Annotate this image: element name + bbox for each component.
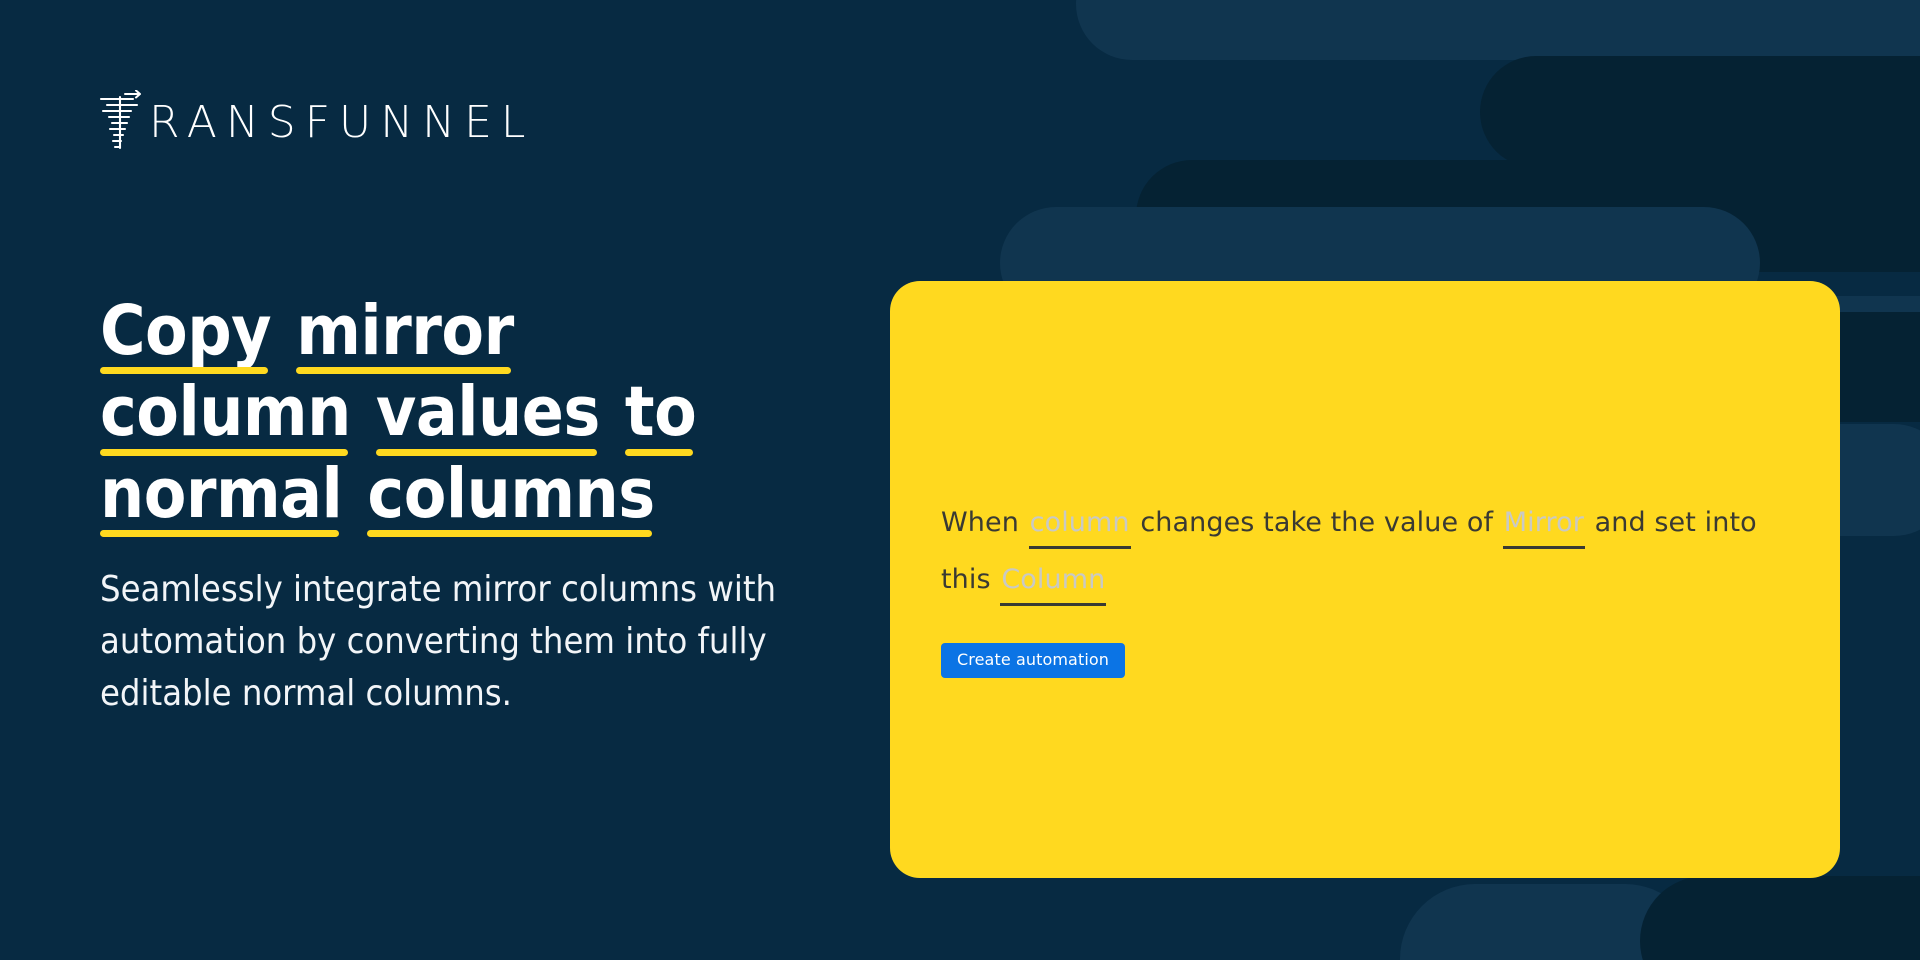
target-column-slot[interactable]: Column: [999, 564, 1107, 595]
headline-word: column: [100, 373, 351, 454]
automation-card-content: When column changes take the value of Mi…: [941, 495, 1804, 678]
deco-bar-3: [1136, 160, 1920, 272]
hero-text-column: Copy mirror column values to normal colu…: [100, 292, 820, 721]
brand-name: RANSFUNNEL: [149, 101, 534, 145]
headline-word: normal: [100, 455, 342, 536]
page-title: Copy mirror column values to normal colu…: [100, 292, 720, 536]
headline-word: columns: [367, 455, 654, 536]
headline-word: mirror: [296, 292, 513, 373]
create-automation-button[interactable]: Create automation: [941, 643, 1125, 678]
deco-bar-10: [1640, 876, 1920, 960]
headline-word: to: [625, 373, 696, 454]
trigger-column-slot[interactable]: column: [1028, 507, 1132, 538]
brand-logo[interactable]: RANSFUNNEL: [99, 90, 534, 152]
deco-bar-9: [1400, 884, 1700, 960]
tornado-funnel-icon: [99, 90, 145, 152]
automation-rule-sentence: When column changes take the value of Mi…: [941, 495, 1804, 608]
hero-banner: RANSFUNNEL Copy mirror column values to …: [0, 0, 1920, 960]
headline-word: values: [376, 373, 600, 454]
deco-bar-2: [1480, 56, 1920, 168]
rule-mid-1: changes take the value of: [1140, 507, 1493, 538]
automation-card: When column changes take the value of Mi…: [890, 281, 1840, 878]
rule-prefix: When: [941, 507, 1019, 538]
page-subtitle: Seamlessly integrate mirror columns with…: [100, 564, 790, 721]
source-mirror-slot[interactable]: Mirror: [1502, 507, 1586, 538]
deco-bar-1: [1076, 0, 1920, 60]
headline-word: Copy: [100, 292, 271, 373]
